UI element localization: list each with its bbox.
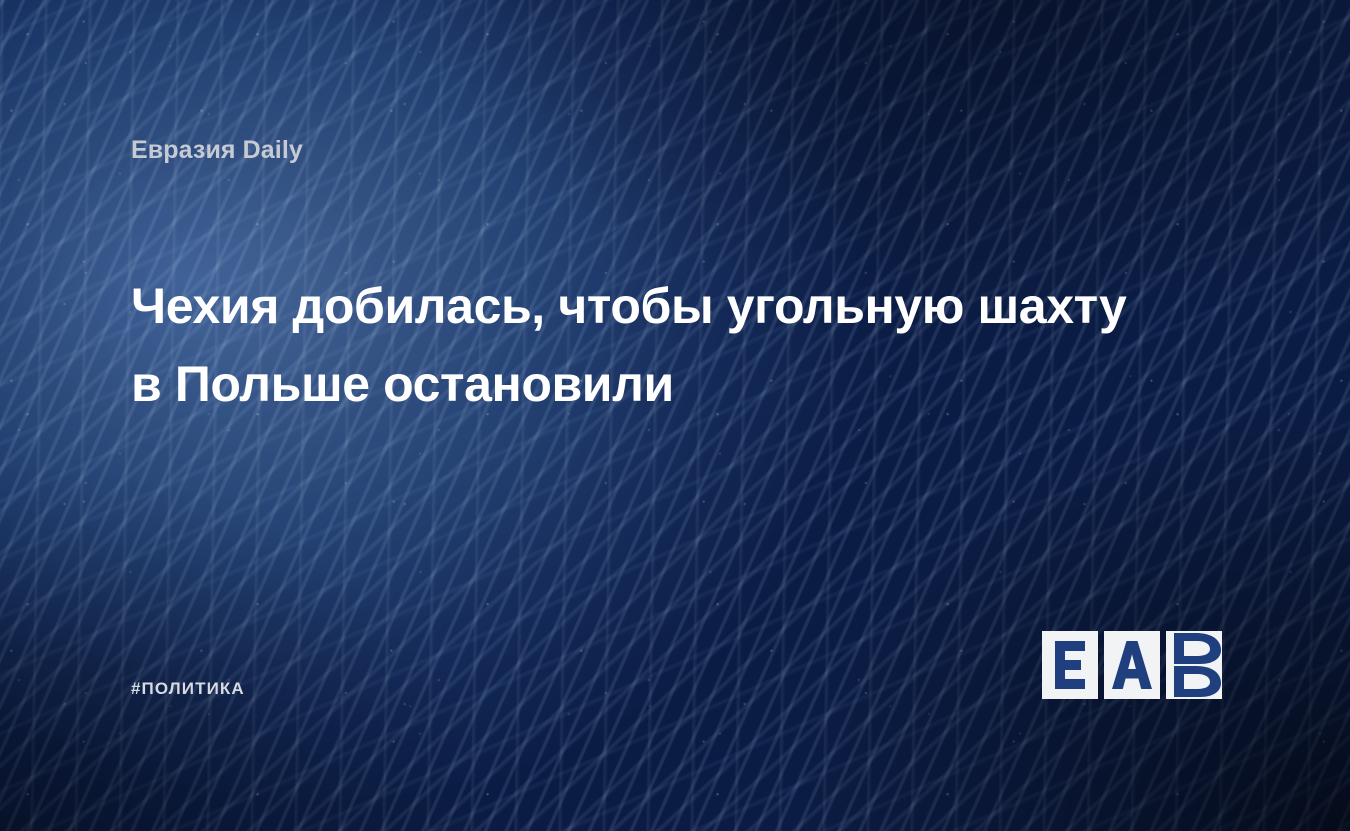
- headline-line-2: в Польше остановили: [131, 345, 1236, 423]
- category-hashtag: #ПОЛИТИКА: [131, 679, 245, 699]
- card-content: Евразия Daily Чехия добилась, чтобы угол…: [0, 0, 1350, 831]
- eadaily-logo: [1042, 631, 1222, 699]
- news-share-card: Евразия Daily Чехия добилась, чтобы угол…: [0, 0, 1350, 831]
- logo-tile-e: [1042, 631, 1098, 699]
- headline: Чехия добилась, чтобы угольную шахту в П…: [131, 267, 1236, 423]
- brand-title: Евразия Daily: [131, 136, 303, 165]
- logo-tile-a: [1104, 631, 1160, 699]
- logo-tile-d: [1166, 631, 1222, 699]
- headline-line-1: Чехия добилась, чтобы угольную шахту: [131, 267, 1236, 345]
